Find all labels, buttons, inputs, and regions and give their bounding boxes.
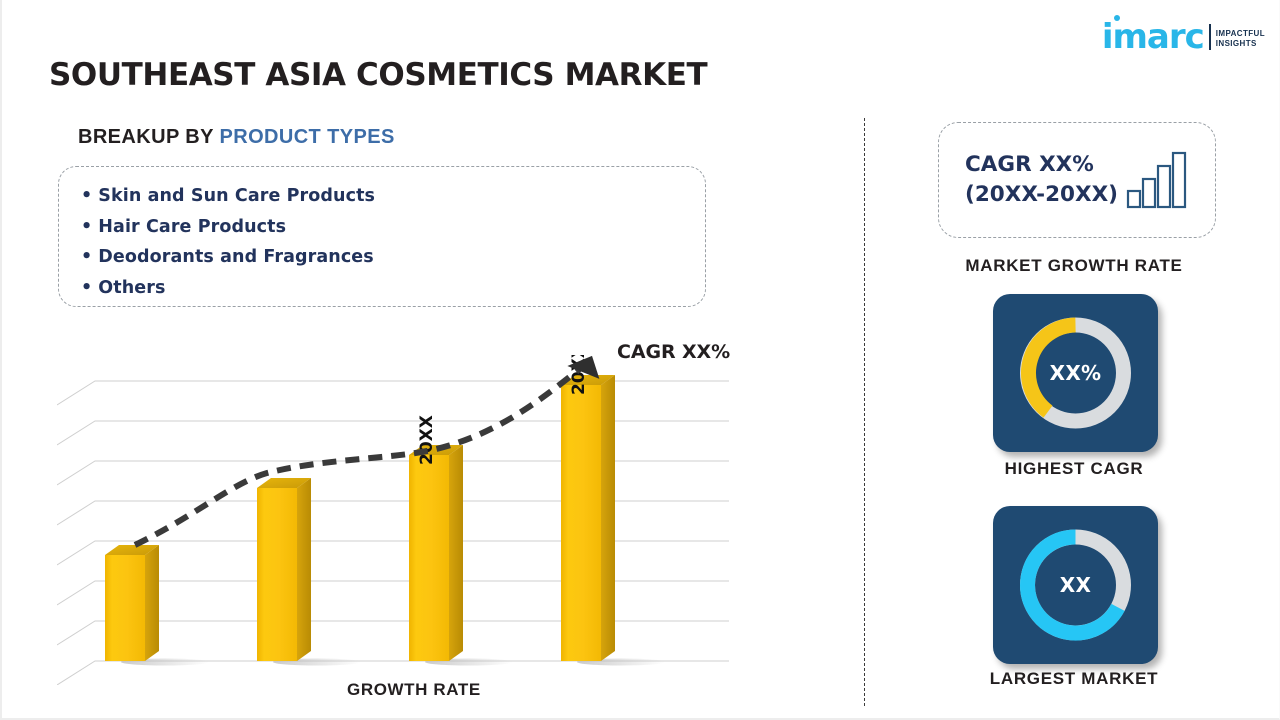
list-item: •Deodorants and Fragrances: [81, 242, 705, 273]
largest-market-label: LARGEST MARKET: [866, 669, 1280, 689]
trend-line: [135, 355, 604, 545]
highest-cagr-card: XX%: [993, 294, 1158, 452]
bullet-icon: •: [81, 278, 92, 298]
bullet-icon: •: [81, 247, 92, 267]
product-types-box: •Skin and Sun Care Products •Hair Care P…: [58, 166, 706, 307]
list-item: •Hair Care Products: [81, 212, 705, 243]
subtitle-plain: BREAKUP BY: [78, 126, 219, 148]
highest-cagr-value: XX%: [993, 294, 1158, 452]
list-item-label: Skin and Sun Care Products: [98, 186, 375, 206]
largest-market-card: XX: [993, 506, 1158, 664]
market-growth-rate-label: MARKET GROWTH RATE: [866, 256, 1280, 276]
page-title: SOUTHEAST ASIA COSMETICS MARKET: [49, 57, 707, 93]
list-item-label: Hair Care Products: [98, 217, 286, 237]
list-item: •Skin and Sun Care Products: [81, 181, 705, 212]
bar-3-label: 20XX: [417, 415, 437, 465]
chart-x-axis-label: GROWTH RATE: [347, 680, 481, 700]
infographic-page: imarc IMPACTFUL INSIGHTS SOUTHEAST ASIA …: [0, 0, 1280, 720]
growth-rate-bar-chart: 20XX 20XX: [57, 355, 757, 685]
list-item-label: Others: [98, 278, 165, 298]
bar-4: 20XX: [561, 355, 615, 661]
product-types-list: •Skin and Sun Care Products •Hair Care P…: [59, 167, 705, 303]
highest-cagr-label: HIGHEST CAGR: [866, 459, 1280, 479]
panel-divider: [864, 118, 865, 706]
bar-2: [257, 478, 311, 661]
largest-market-value: XX: [993, 506, 1158, 664]
list-item: •Others: [81, 273, 705, 304]
bullet-icon: •: [81, 186, 92, 206]
bullet-icon: •: [81, 217, 92, 237]
section-subtitle: BREAKUP BY PRODUCT TYPES: [78, 126, 395, 149]
subtitle-accent: PRODUCT TYPES: [219, 126, 394, 148]
chart-svg: 20XX 20XX: [57, 355, 757, 685]
chart-cagr-annotation: CAGR XX%: [617, 341, 730, 363]
list-item-label: Deodorants and Fragrances: [98, 247, 373, 267]
bar-1: [105, 545, 159, 661]
